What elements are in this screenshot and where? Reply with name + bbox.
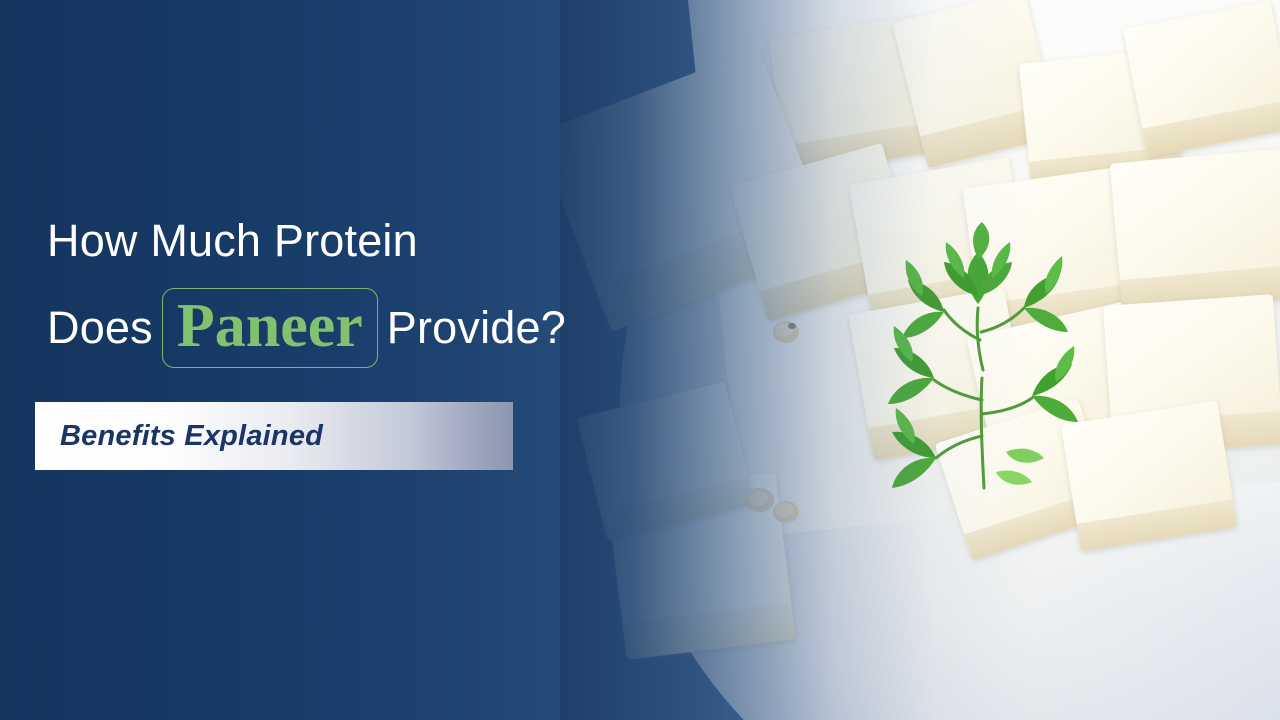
headline-block: How Much Protein Does Paneer Provide? [47,214,747,368]
keyword-paneer: Paneer [177,295,363,357]
headline-word-does: Does [47,301,153,355]
subtitle-text: Benefits Explained [35,420,323,453]
headline-line-1: How Much Protein [47,214,747,268]
subtitle-bar: Benefits Explained [35,402,513,470]
keyword-highlight-box: Paneer [162,288,378,368]
banner-canvas: How Much Protein Does Paneer Provide? Be… [0,0,1280,720]
headline-word-provide: Provide? [387,301,566,355]
headline-line-2: Does Paneer Provide? [47,288,747,368]
